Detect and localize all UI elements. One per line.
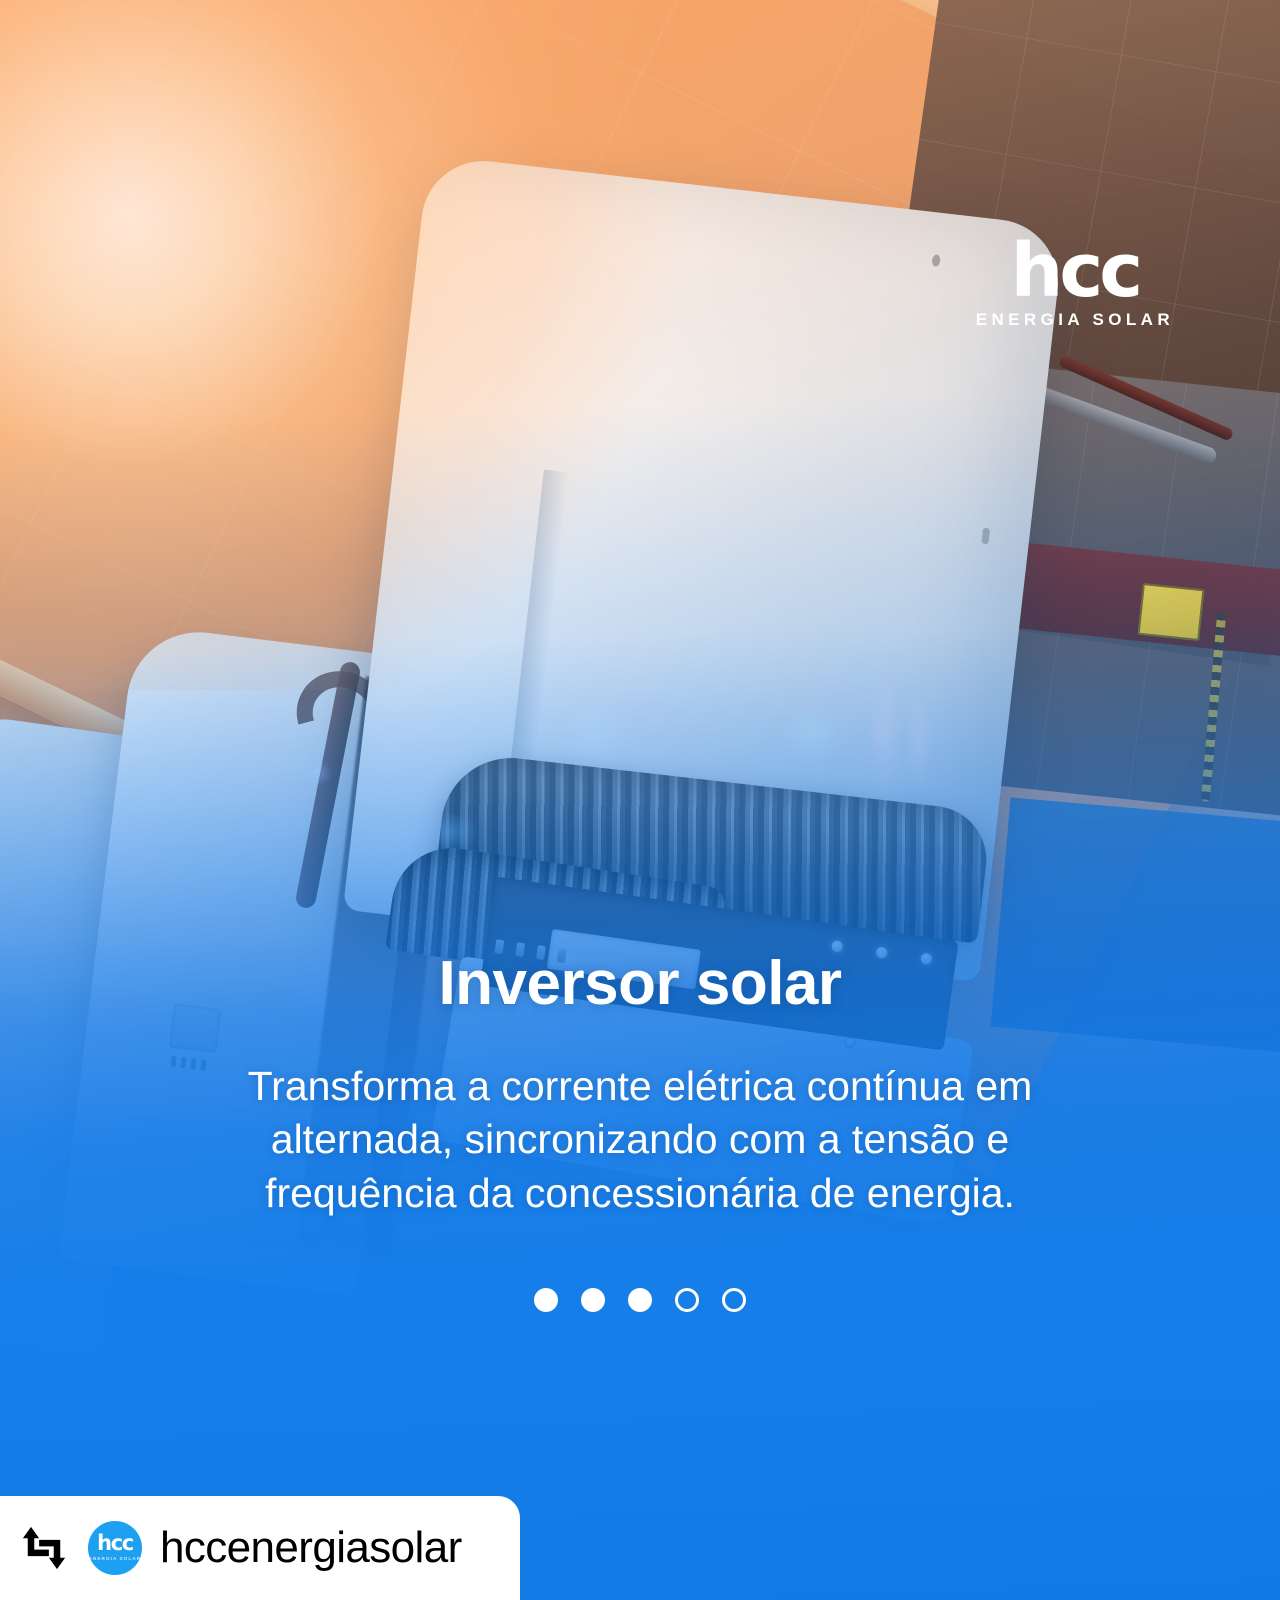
body-line-1: Transforma a corrente elétrica contínua … <box>140 1060 1140 1113</box>
social-post-slide: hcc ENERGIA SOLAR Inversor solar Transfo… <box>0 0 1280 1600</box>
body-text: Transforma a corrente elétrica contínua … <box>140 1060 1140 1220</box>
pagination-dot-3[interactable] <box>628 1288 652 1312</box>
pagination-dot-5[interactable] <box>722 1288 746 1312</box>
account-handle[interactable]: hccenergiasolar <box>160 1523 462 1573</box>
hcc-logo: hcc ENERGIA SOLAR <box>976 240 1174 330</box>
body-line-2: alternada, sincronizando com a tensão e <box>140 1113 1140 1166</box>
repost-attribution-bar[interactable]: hcc ENERGIA SOLAR hccenergiasolar <box>0 1496 520 1600</box>
avatar-wordmark: hcc <box>97 1535 133 1552</box>
logo-tagline: ENERGIA SOLAR <box>976 310 1174 330</box>
carousel-pagination[interactable] <box>0 1288 1280 1312</box>
pagination-dot-4[interactable] <box>675 1288 699 1312</box>
avatar-tagline: ENERGIA SOLAR <box>89 1556 141 1561</box>
pagination-dot-2[interactable] <box>581 1288 605 1312</box>
post-content: hcc ENERGIA SOLAR Inversor solar Transfo… <box>0 0 1280 1600</box>
body-line-3: frequência da concessionária de energia. <box>140 1167 1140 1220</box>
repost-icon[interactable] <box>18 1522 70 1574</box>
logo-wordmark: hcc <box>976 240 1174 302</box>
page-title: Inversor solar <box>0 948 1280 1019</box>
pagination-dot-1[interactable] <box>534 1288 558 1312</box>
avatar[interactable]: hcc ENERGIA SOLAR <box>88 1521 142 1575</box>
